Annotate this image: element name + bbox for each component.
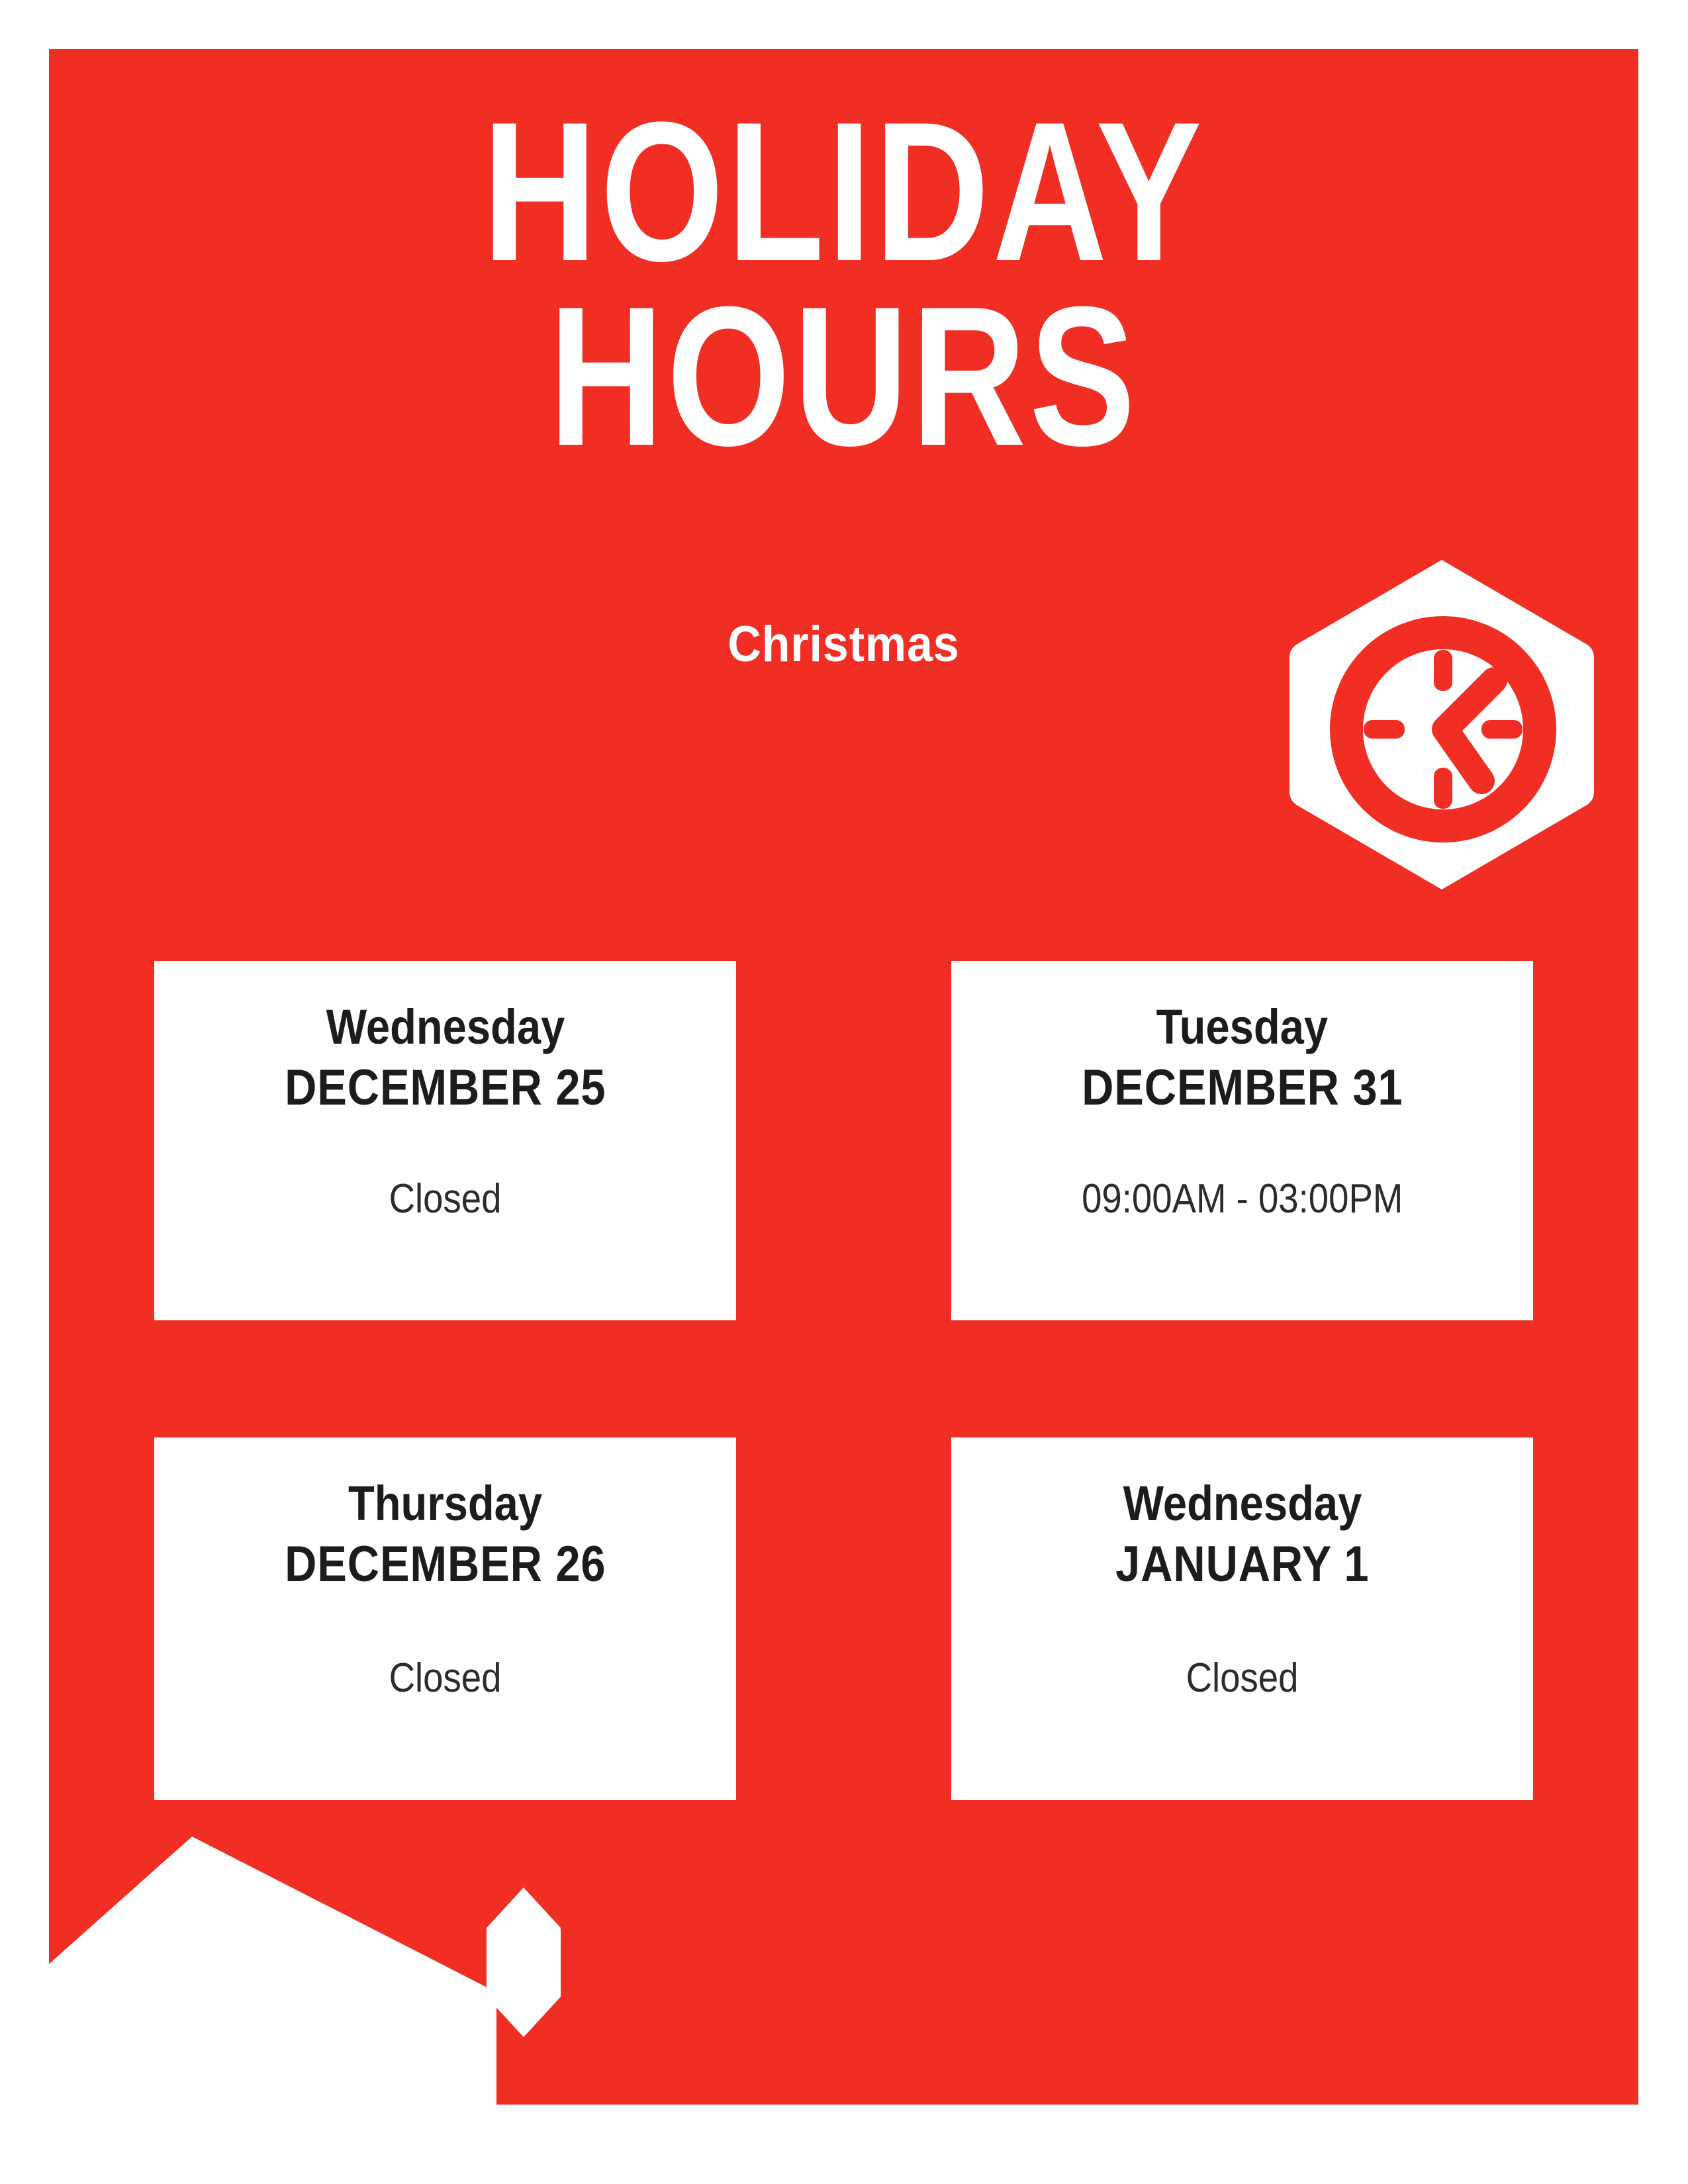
schedule-card: Wednesday DECEMBER 25 Closed — [154, 961, 736, 1320]
card-hours: Closed — [389, 1656, 502, 1701]
poster-header: HOLIDAY HOURS — [49, 99, 1638, 469]
page-title-line-1: HOLIDAY — [208, 99, 1479, 284]
card-date: JANUARY 1 — [1115, 1537, 1369, 1592]
schedule-card: Wednesday JANUARY 1 Closed — [951, 1437, 1533, 1800]
card-weekday: Wednesday — [326, 1001, 565, 1054]
card-date: DECEMBER 26 — [285, 1537, 606, 1592]
card-weekday: Thursday — [348, 1477, 542, 1530]
page-title-line-2: HOURS — [208, 284, 1479, 469]
card-date: DECEMBER 31 — [1082, 1060, 1403, 1116]
card-hours: Closed — [389, 1177, 502, 1222]
card-hours: Closed — [1186, 1656, 1299, 1701]
card-date: DECEMBER 25 — [285, 1060, 606, 1116]
clock-hexagon-icon — [1289, 556, 1594, 893]
card-weekday: Wednesday — [1123, 1477, 1362, 1530]
card-hours: 09:00AM - 03:00PM — [1082, 1177, 1403, 1222]
schedule-card: Tuesday DECEMBER 31 09:00AM - 03:00PM — [951, 961, 1533, 1320]
card-weekday: Tuesday — [1156, 1001, 1328, 1054]
white-floor-decoration — [0, 2105, 1688, 2184]
schedule-card: Thursday DECEMBER 26 Closed — [154, 1437, 736, 1800]
holiday-hours-poster: HOLIDAY HOURS Christmas Wednesday DECEMB… — [0, 0, 1688, 2184]
